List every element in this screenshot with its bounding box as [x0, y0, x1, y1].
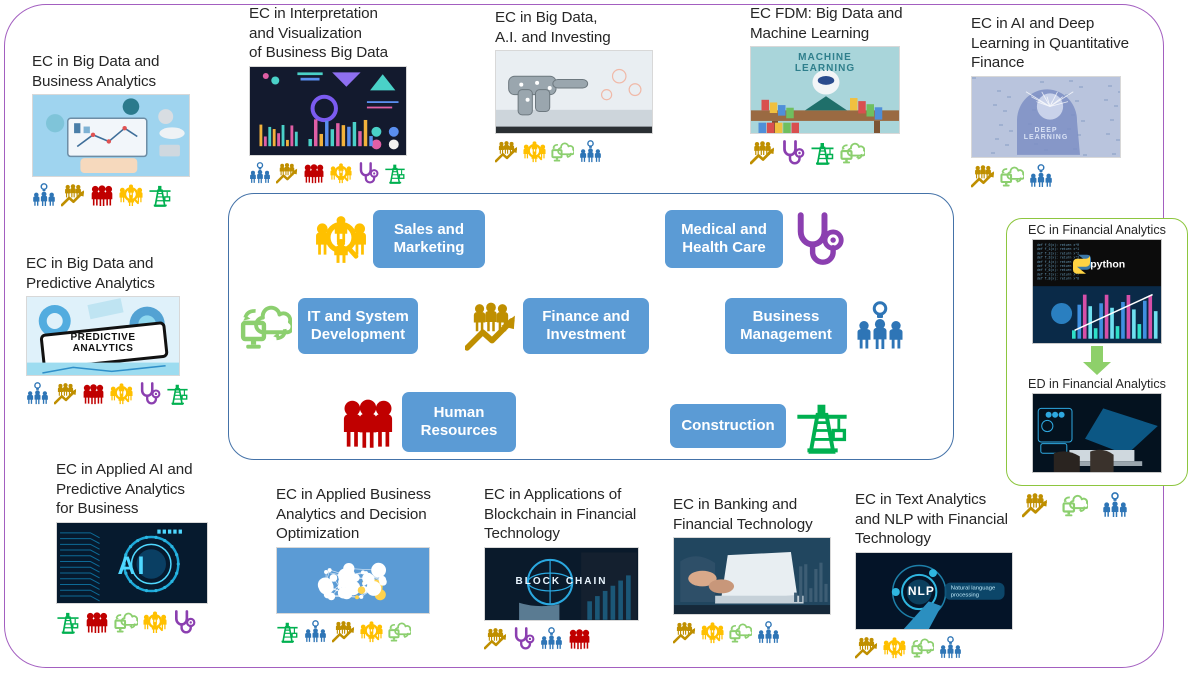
team-lightbulb-icon: [304, 620, 327, 643]
program-card-ai-deep-learning-quant-finance[interactable]: EC in AI and Deep Learning in Quantitati…: [971, 14, 1181, 188]
svg-text:def f_8(x): return x*8: def f_8(x): return x*8: [1037, 277, 1079, 281]
sales-magnifier-people-icon: [110, 382, 133, 405]
stethoscope-icon: [512, 627, 535, 650]
three-people-icon: [82, 382, 105, 405]
category-medical-and-health-care[interactable]: Medical and Health Care: [665, 210, 845, 268]
sales-magnifier-people-icon: [523, 140, 546, 163]
program-category-icons: [249, 162, 467, 184]
svg-text:python: python: [1090, 258, 1125, 270]
team-lightbulb-icon: [32, 183, 56, 207]
category-it-and-system-development[interactable]: IT and System Development: [240, 298, 418, 354]
program-title: EC in Big Data and Business Analytics: [32, 52, 250, 91]
team-lightbulb-icon: [939, 636, 962, 659]
crane-icon: [276, 620, 299, 643]
program-thumbnail: [1032, 393, 1162, 473]
program-title: EC in Big Data, A.I. and Investing: [495, 8, 713, 47]
program-thumbnail: [276, 547, 430, 614]
program-category-icons: [495, 140, 713, 163]
category-pill[interactable]: Sales and Marketing: [373, 210, 485, 268]
team-lightbulb-icon: [26, 382, 49, 405]
program-thumbnail: DEEP LEARNING: [971, 76, 1121, 158]
program-card-big-data-predictive-analytics[interactable]: EC in Big Data and Predictive Analytics …: [26, 254, 240, 405]
program-thumbnail: Natural language processing NLP: [855, 552, 1013, 630]
program-card-fdm-big-data-ml[interactable]: EC FDM: Big Data and Machine Learning MA…: [750, 4, 960, 165]
category-construction[interactable]: Construction: [670, 398, 850, 454]
category-icon-wrap: [465, 300, 517, 352]
category-label: Human Resources: [421, 404, 498, 441]
program-thumbnail: [32, 94, 190, 177]
crane-icon: [810, 140, 835, 165]
program-title: EC in Interpretation and Visualization o…: [249, 4, 467, 63]
people-growth-arrow-icon: [855, 636, 878, 659]
program-thumbnail: AI: [56, 522, 208, 604]
program-category-icons: [750, 140, 960, 165]
program-thumbnail: BLOCK CHAIN: [484, 547, 639, 621]
down-arrow-icon: [1080, 346, 1114, 376]
category-label: IT and System Development: [307, 308, 409, 345]
people-growth-arrow-icon: [484, 627, 507, 650]
sales-magnifier-people-icon: [143, 610, 167, 634]
program-card-big-data-ai-investing[interactable]: EC in Big Data, A.I. and Investing: [495, 8, 713, 163]
category-sales-and-marketing[interactable]: Sales and Marketing: [315, 210, 485, 268]
people-growth-arrow-icon: [971, 164, 995, 188]
program-card-applied-ai-predictive-business[interactable]: EC in Applied AI and Predictive Analytic…: [56, 460, 268, 634]
team-lightbulb-icon: [1029, 164, 1053, 188]
program-card-text-analytics-nlp[interactable]: EC in Text Analytics and NLP with Financ…: [855, 490, 1073, 659]
cloud-monitor-sync-icon: [551, 140, 574, 163]
category-label: Finance and Investment: [542, 308, 630, 345]
people-growth-arrow-icon: [61, 183, 85, 207]
people-growth-arrow-icon: [332, 620, 355, 643]
crane-icon: [56, 610, 80, 634]
category-icon-wrap: [240, 300, 292, 352]
program-category-icons: [56, 610, 268, 634]
team-lightbulb-icon: [1102, 492, 1128, 518]
three-people-icon: [85, 610, 109, 634]
svg-text:Natural language: Natural language: [951, 585, 996, 591]
crane-icon: [794, 398, 850, 454]
program-title: EC in Applied AI and Predictive Analytic…: [56, 460, 268, 519]
program-thumbnail: def f_0(x): return x*0def f_1(x): return…: [1032, 239, 1162, 344]
team-lightbulb-icon: [579, 140, 602, 163]
crane-icon: [384, 162, 406, 184]
program-title: EC in AI and Deep Learning in Quantitati…: [971, 14, 1181, 73]
program-card-big-data-business-analytics[interactable]: EC in Big Data and Business Analytics: [32, 52, 250, 207]
program-category-icons: [971, 164, 1181, 188]
sales-magnifier-people-icon: [330, 162, 352, 184]
category-pill[interactable]: Business Management: [725, 298, 847, 354]
category-finance-and-investment[interactable]: Finance and Investment: [465, 298, 649, 354]
category-label: Sales and Marketing: [394, 221, 465, 258]
program-title: EC in Big Data and Predictive Analytics: [26, 254, 240, 293]
three-people-icon: [340, 394, 396, 450]
people-growth-arrow-icon: [465, 300, 517, 352]
stethoscope-icon: [357, 162, 379, 184]
sales-magnifier-people-icon: [883, 636, 906, 659]
category-pill[interactable]: Human Resources: [402, 392, 516, 452]
program-card-blockchain-fintech[interactable]: EC in Applications of Blockchain in Fina…: [484, 485, 699, 650]
category-label: Construction: [681, 417, 774, 436]
program-thumbnail: [249, 66, 407, 156]
team-lightbulb-icon: [757, 621, 780, 644]
three-people-icon: [90, 183, 114, 207]
cloud-monitor-sync-icon: [388, 620, 411, 643]
category-pill[interactable]: Finance and Investment: [523, 298, 649, 354]
program-title: EC in Applications of Blockchain in Fina…: [484, 485, 699, 544]
cloud-monitor-sync-icon: [840, 140, 865, 165]
program-category-icons: [484, 627, 699, 650]
stethoscope-icon: [138, 382, 161, 405]
category-label: Business Management: [740, 308, 832, 345]
three-people-icon: [568, 627, 591, 650]
program-thumbnail: PREDICTIVE ANALYTICS: [26, 296, 180, 376]
people-growth-arrow-icon: [276, 162, 298, 184]
sales-magnifier-people-icon: [701, 621, 724, 644]
cloud-monitor-sync-icon: [729, 621, 752, 644]
crane-icon: [166, 382, 189, 405]
cloud-monitor-sync-icon: [1000, 164, 1024, 188]
people-growth-arrow-icon: [750, 140, 775, 165]
sales-magnifier-people-icon: [360, 620, 383, 643]
category-icon-wrap: [315, 213, 367, 265]
category-pill[interactable]: Medical and Health Care: [665, 210, 783, 268]
stethoscope-icon: [780, 140, 805, 165]
program-thumbnail: [673, 537, 831, 615]
program-title: EC in Text Analytics and NLP with Financ…: [855, 490, 1073, 549]
stethoscope-icon: [172, 610, 196, 634]
program-title: EC FDM: Big Data and Machine Learning: [750, 4, 960, 43]
svg-text:processing: processing: [951, 592, 979, 598]
team-lightbulb-icon: [855, 301, 905, 351]
category-label: Medical and Health Care: [681, 221, 767, 258]
sales-magnifier-people-icon: [315, 213, 367, 265]
program-title: EC in Applied Business Analytics and Dec…: [276, 485, 490, 544]
cloud-monitor-sync-icon: [240, 300, 292, 352]
cloud-monitor-sync-icon: [911, 636, 934, 659]
category-icon-wrap: [794, 398, 850, 454]
team-lightbulb-icon: [249, 162, 271, 184]
program-category-icons: [26, 382, 240, 405]
program-category-icons: [32, 183, 250, 207]
program-thumbnail: [495, 50, 653, 134]
people-growth-arrow-icon: [54, 382, 77, 405]
stethoscope-icon: [791, 212, 845, 266]
program-category-icons: [855, 636, 1073, 659]
category-icon-wrap: [855, 301, 905, 351]
people-growth-arrow-icon: [673, 621, 696, 644]
category-pill[interactable]: Construction: [670, 404, 786, 448]
sales-magnifier-people-icon: [119, 183, 143, 207]
crane-icon: [148, 183, 172, 207]
category-icon-wrap: [791, 212, 845, 266]
program-card-applied-business-analytics-decision[interactable]: EC in Applied Business Analytics and Dec…: [276, 485, 490, 643]
people-growth-arrow-icon: [495, 140, 518, 163]
category-business-management[interactable]: Business Management: [725, 298, 905, 354]
ec-financial-analytics-title: EC in Financial Analytics: [1006, 220, 1188, 237]
category-icon-wrap: [340, 394, 396, 450]
ed-financial-analytics-title: ED in Financial Analytics: [1006, 376, 1188, 391]
category-human-resources[interactable]: Human Resources: [340, 392, 516, 452]
program-card-interpretation-visualization[interactable]: EC in Interpretation and Visualization o…: [249, 4, 467, 184]
team-lightbulb-icon: [540, 627, 563, 650]
cloud-monitor-sync-icon: [114, 610, 138, 634]
program-category-icons: [276, 620, 490, 643]
three-people-icon: [303, 162, 325, 184]
program-thumbnail: MACHINE LEARNING: [750, 46, 900, 134]
category-pill[interactable]: IT and System Development: [298, 298, 418, 354]
